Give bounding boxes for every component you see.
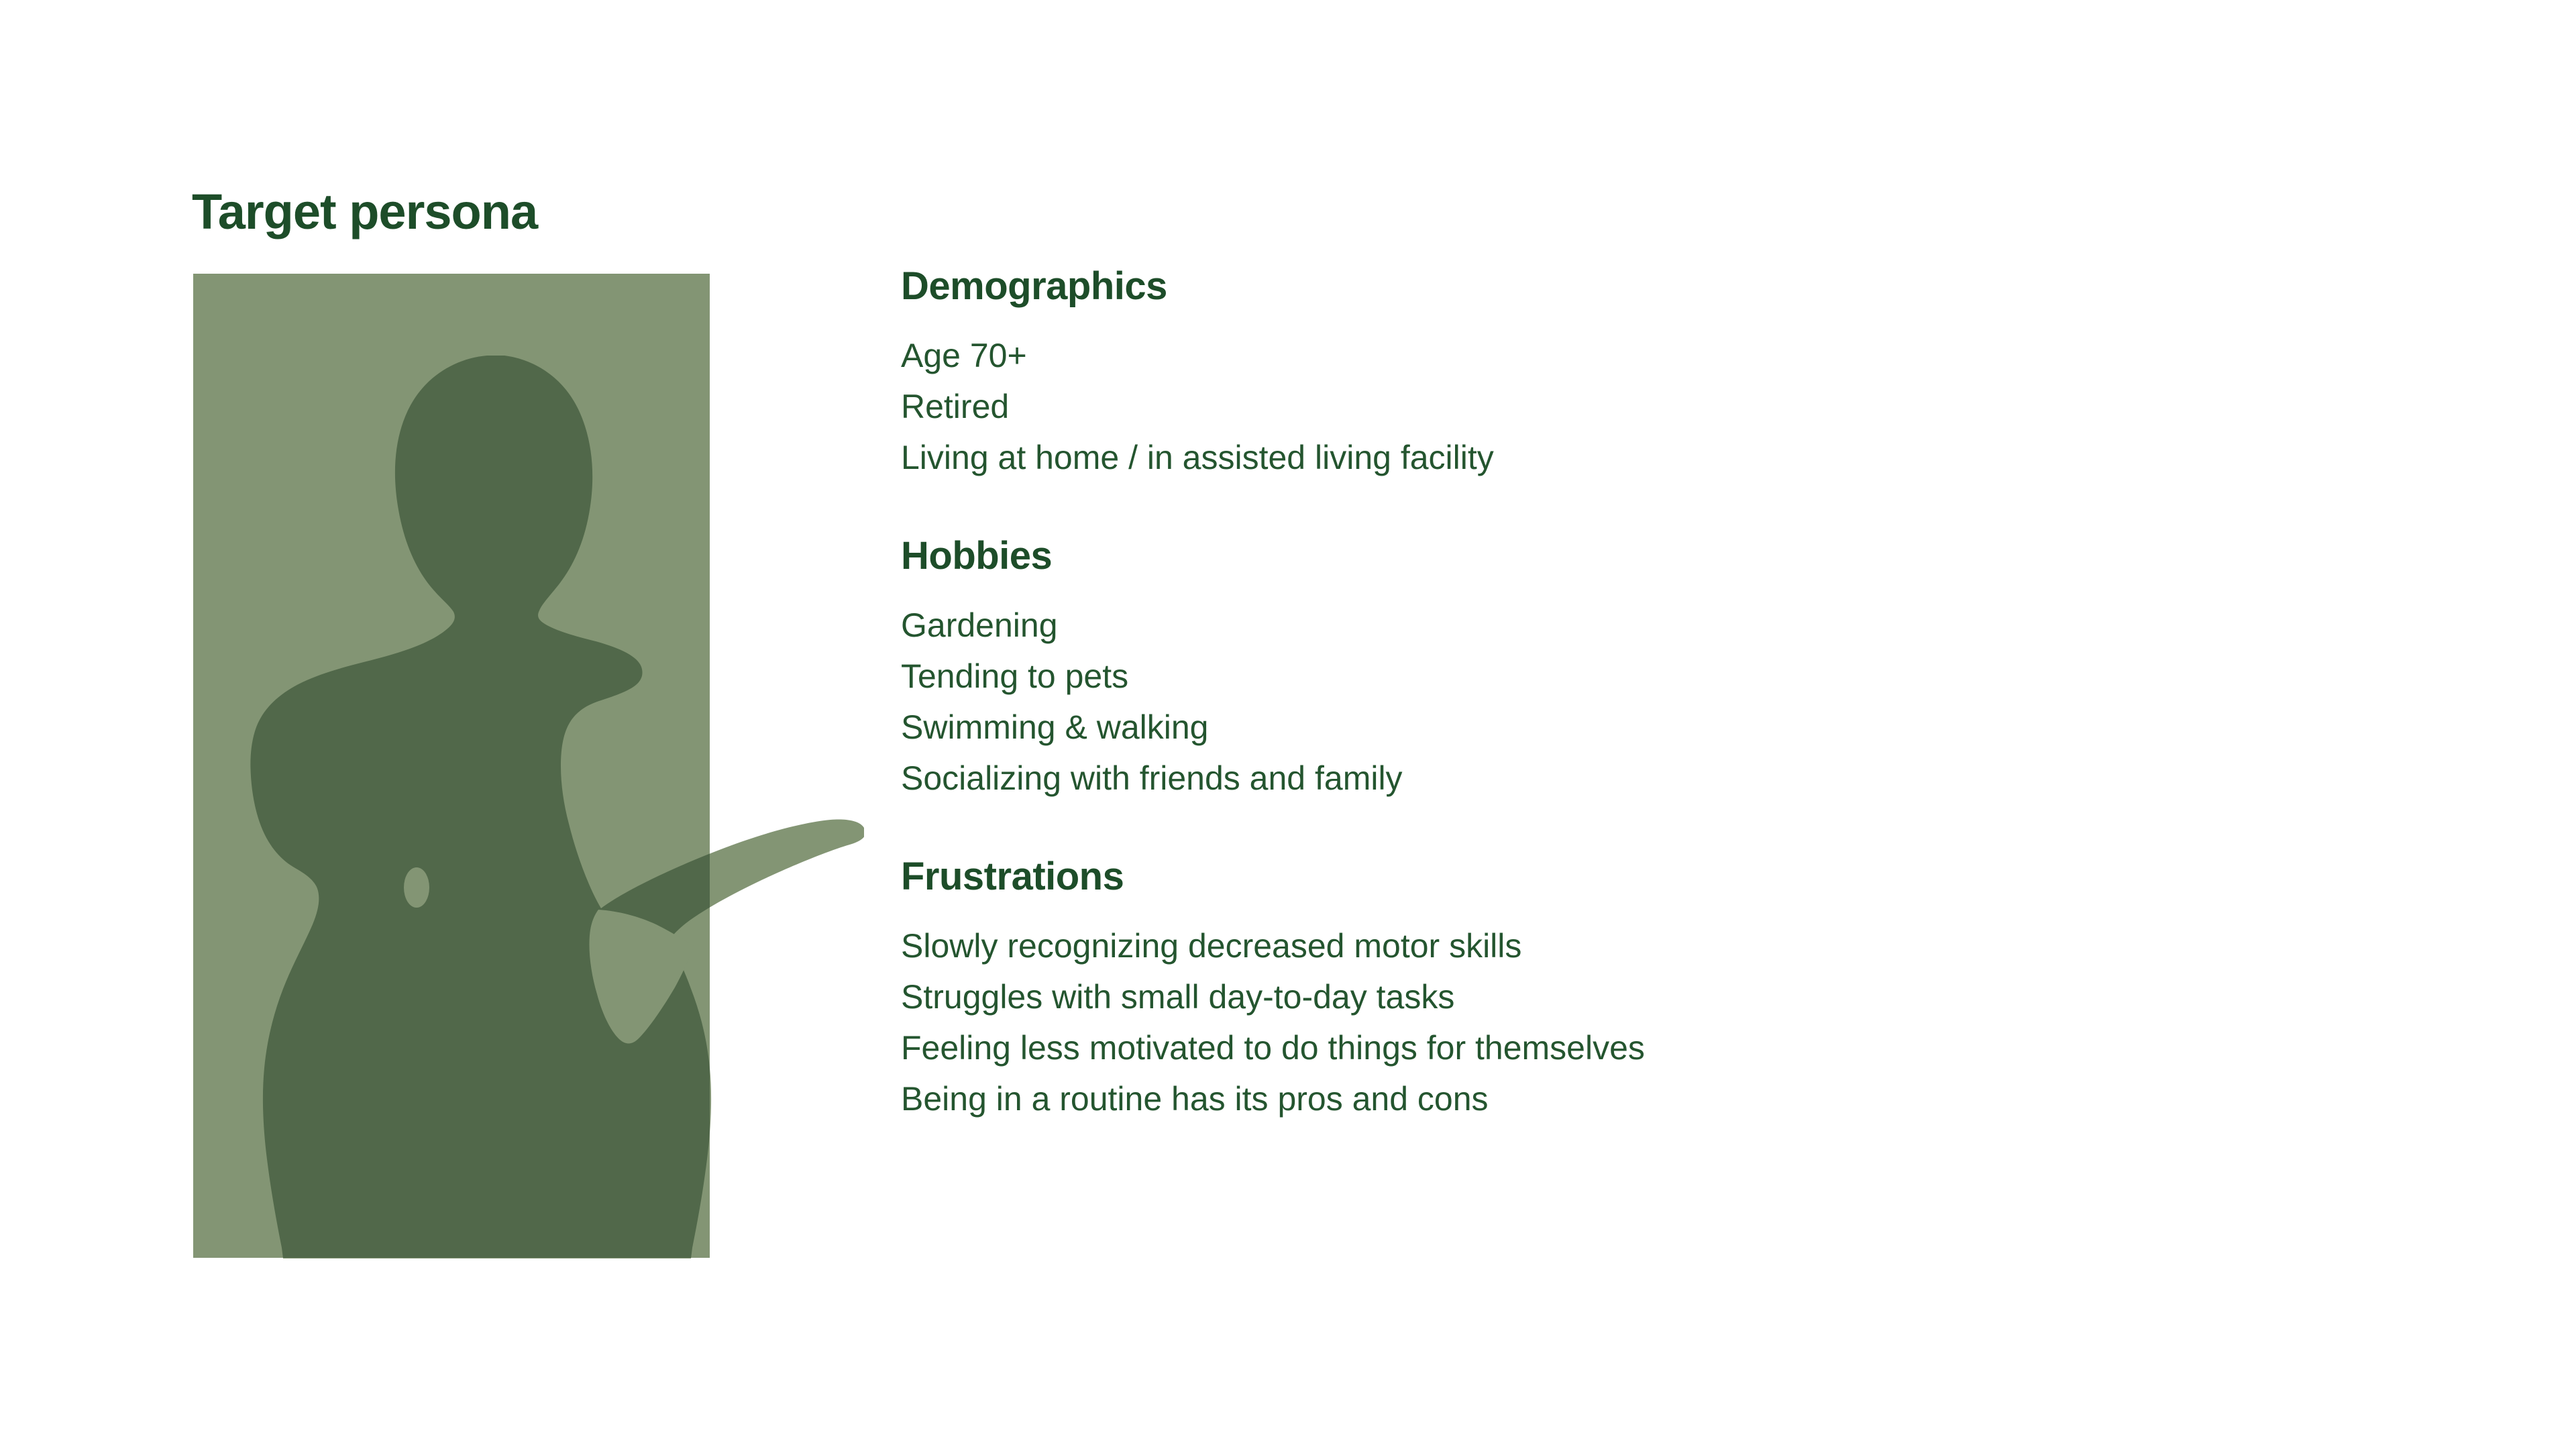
list-item: Swimming & walking [901, 702, 2377, 753]
list-item: Living at home / in assisted living faci… [901, 432, 2377, 483]
list-item: Feeling less motivated to do things for … [901, 1022, 2377, 1073]
list-item: Age 70+ [901, 330, 2377, 381]
section-heading-frustrations: Frustrations [901, 853, 2377, 900]
page-title: Target persona [192, 182, 537, 241]
hobbies-list: Gardening Tending to pets Swimming & wal… [901, 600, 2377, 804]
list-item: Gardening [901, 600, 2377, 651]
demographics-list: Age 70+ Retired Living at home / in assi… [901, 330, 2377, 483]
list-item: Tending to pets [901, 651, 2377, 702]
section-frustrations: Frustrations Slowly recognizing decrease… [901, 853, 2377, 1124]
list-item: Struggles with small day-to-day tasks [901, 971, 2377, 1022]
person-silhouette-icon [193, 274, 864, 1258]
list-item: Slowly recognizing decreased motor skill… [901, 920, 2377, 971]
persona-figure [193, 274, 864, 1258]
list-item: Socializing with friends and family [901, 753, 2377, 804]
frustrations-list: Slowly recognizing decreased motor skill… [901, 920, 2377, 1124]
brooch-dot-icon [404, 867, 429, 908]
section-heading-hobbies: Hobbies [901, 533, 2377, 580]
section-hobbies: Hobbies Gardening Tending to pets Swimmi… [901, 533, 2377, 804]
section-demographics: Demographics Age 70+ Retired Living at h… [901, 263, 2377, 483]
list-item: Retired [901, 381, 2377, 432]
slide-canvas: Target persona De [0, 0, 2576, 1449]
list-item: Being in a routine has its pros and cons [901, 1073, 2377, 1124]
section-heading-demographics: Demographics [901, 263, 2377, 310]
silhouette-dark-layer [250, 356, 864, 1258]
persona-details: Demographics Age 70+ Retired Living at h… [901, 263, 2377, 1124]
